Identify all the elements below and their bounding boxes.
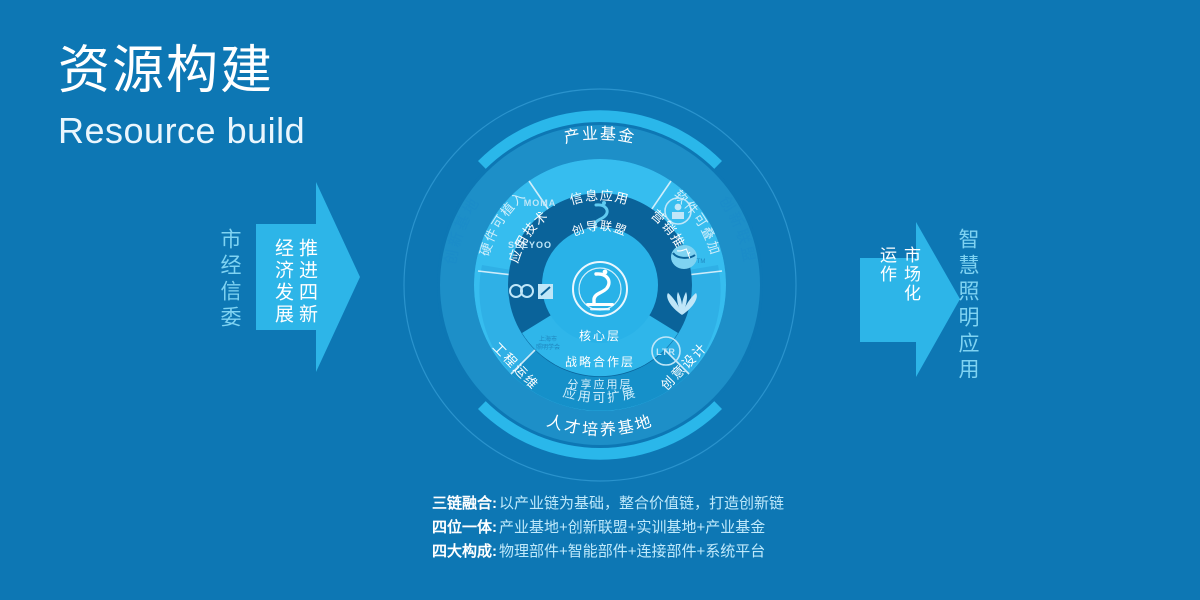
- left-side-label: 市经信委: [214, 228, 244, 332]
- svg-text:上海市: 上海市: [539, 335, 557, 343]
- note-row: 三链融合:以产业链为基础，整合价值链，打造创新链: [432, 492, 784, 516]
- market-arrow-col1: 市场化: [898, 246, 922, 303]
- advance-arrow-col1: 推进四新: [294, 238, 318, 326]
- segment-label-bottom: 分享应用层: [568, 377, 633, 391]
- slide-canvas: 资源构建 Resource build 市经信委 推进四新 经济发展 市场化 运…: [0, 0, 1200, 600]
- right-side-label: 智慧照明应用: [952, 228, 982, 384]
- core-circle: [542, 227, 658, 343]
- note-value: 物理部件+智能部件+连接部件+系统平台: [499, 543, 765, 560]
- page-title-cn: 资源构建: [58, 40, 305, 102]
- note-key: 四位一体:: [432, 519, 497, 536]
- note-row: 四大构成:物理部件+智能部件+连接部件+系统平台: [432, 540, 784, 564]
- strategy-layer-label: 战略合作层: [565, 354, 635, 369]
- advance-arrow-text: 推进四新 经济发展: [270, 238, 318, 326]
- note-key: 四大构成:: [432, 543, 497, 560]
- advance-arrow: 推进四新 经济发展: [256, 182, 360, 372]
- svg-text:照明学会: 照明学会: [536, 343, 560, 351]
- core-layer-label: 核心层: [579, 329, 621, 343]
- market-arrow: 市场化 运作: [860, 222, 960, 377]
- note-key: 三链融合:: [432, 495, 497, 512]
- svg-text:TM: TM: [697, 259, 706, 265]
- page-title-en: Resource build: [58, 108, 305, 154]
- bottom-notes: 三链融合:以产业链为基础，整合价值链，打造创新链 四位一体:产业基地+创新联盟+…: [432, 492, 784, 564]
- svg-text:LTR: LTR: [656, 347, 676, 357]
- title-block: 资源构建 Resource build: [58, 40, 305, 154]
- note-value: 以产业链为基础，整合价值链，打造创新链: [499, 495, 784, 512]
- advance-arrow-col2: 经济发展: [270, 238, 294, 326]
- resource-circle-diagram: MOMA SEEYOO 上海市 照明学会: [390, 75, 810, 495]
- note-row: 四位一体:产业基地+创新联盟+实训基地+产业基金: [432, 516, 784, 540]
- moma-logo: MOMA: [524, 198, 557, 208]
- note-value: 产业基地+创新联盟+实训基地+产业基金: [499, 519, 765, 536]
- market-arrow-text: 市场化 运作: [874, 246, 922, 303]
- square-mark-logo: [538, 284, 553, 299]
- market-arrow-col2: 运作: [874, 246, 898, 284]
